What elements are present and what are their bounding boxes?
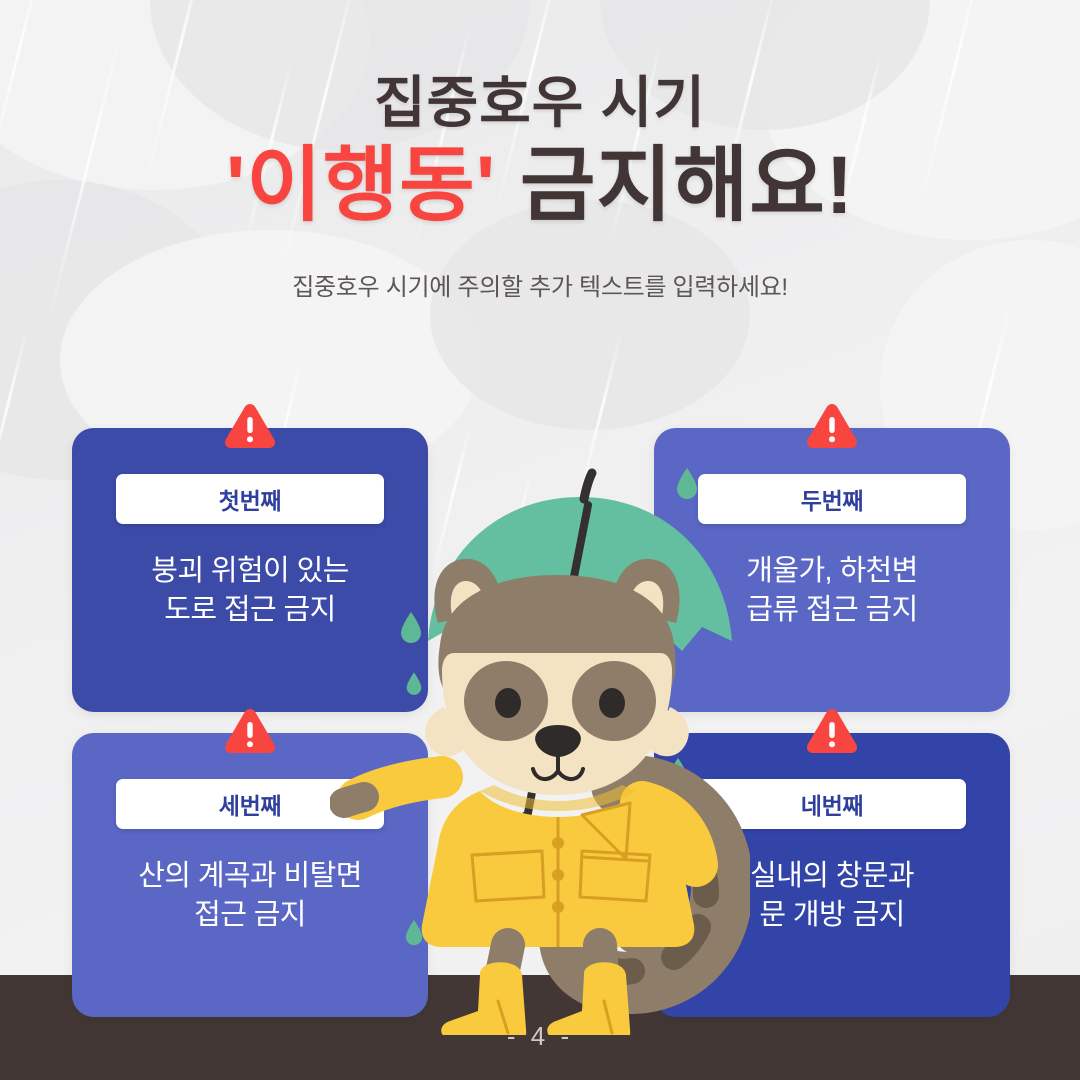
card-body-text: 실내의 창문과 문 개방 금지 — [750, 857, 914, 935]
page-number: - 4 - — [0, 1021, 1080, 1052]
title-highlight: '이행동' — [226, 140, 496, 231]
card-body-text: 붕괴 위험이 있는 도로 접근 금지 — [151, 552, 348, 630]
page-title-line1: 집중호우 시기 — [0, 74, 1080, 133]
raccoon-left-paw — [344, 797, 364, 803]
warning-triangle-icon — [805, 402, 859, 450]
page-header: 집중호우 시기 '이행동' 금지해요! 집중호우 시기에 주의할 추가 텍스트를… — [0, 0, 1080, 302]
title-rest: 금지해요! — [496, 140, 854, 231]
raccoon-character-illustration — [330, 455, 750, 1035]
warning-triangle-icon — [223, 402, 277, 450]
page-subtitle: 집중호우 시기에 주의할 추가 텍스트를 입력하세요! — [0, 267, 1080, 302]
warning-triangle-icon — [223, 707, 277, 755]
umbrella-tip — [584, 473, 592, 499]
card-body-text: 산의 계곡과 비탈면 접근 금지 — [138, 857, 362, 935]
card-body-text: 개울가, 하천변 급류 접근 금지 — [746, 552, 917, 630]
warning-triangle-icon — [805, 707, 859, 755]
raccoon-eye-left — [495, 688, 521, 718]
page-title-line2: '이행동' 금지해요! — [0, 139, 1080, 233]
raccoon-eye-right — [599, 688, 625, 718]
raincoat — [422, 785, 696, 947]
